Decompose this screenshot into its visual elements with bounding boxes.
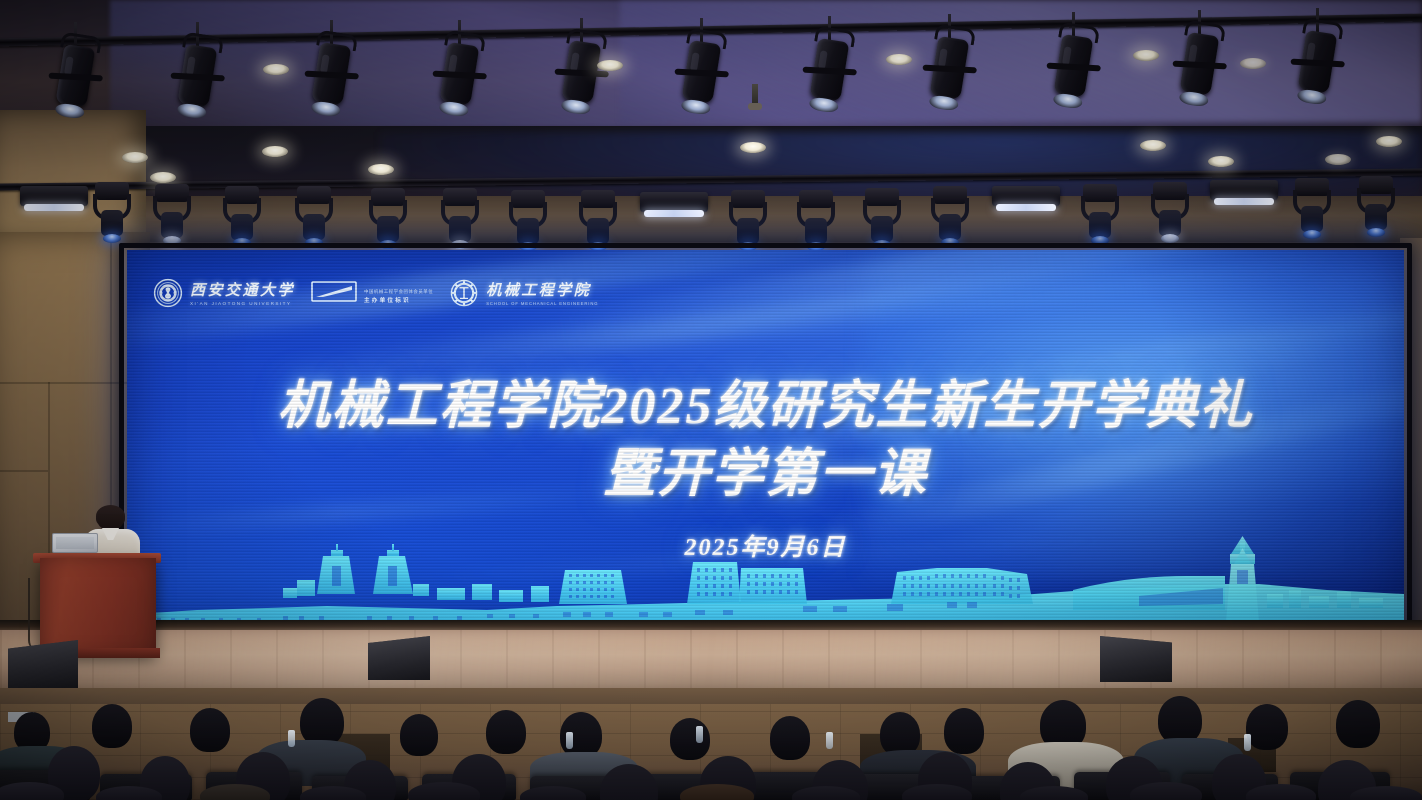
water-bottle <box>1244 734 1251 751</box>
water-bottle <box>566 732 573 749</box>
ceiling-downlight <box>597 60 623 71</box>
audience-head <box>1350 786 1422 800</box>
light-beam <box>1367 228 1385 237</box>
lectern <box>40 558 156 654</box>
moving-head-light <box>368 188 408 246</box>
audience-head <box>92 704 132 748</box>
moving-head-light <box>1150 182 1190 240</box>
light-beam <box>163 236 181 245</box>
moving-head-light <box>508 190 548 248</box>
moving-head-light <box>728 190 768 248</box>
water-bottle <box>826 732 833 749</box>
stage-monitor-right <box>1100 636 1172 682</box>
ceiling-downlight <box>263 64 289 75</box>
light-beam <box>1161 234 1179 243</box>
ceiling-downlight <box>740 142 766 153</box>
tower-block-b <box>687 562 807 604</box>
headline-line-2: 暨开学第一课 <box>127 444 1404 506</box>
ceiling-downlight <box>1133 50 1159 61</box>
moving-head-light <box>1080 184 1120 242</box>
moving-head-light <box>440 188 480 246</box>
moving-head-light <box>930 186 970 244</box>
audience-head <box>1158 696 1202 744</box>
light-beam <box>379 240 397 249</box>
logo-xjtu: 西安交通大学 XI'AN JIAOTONG UNIVERSITY <box>153 278 295 313</box>
logo-school-cn: 机械工程学院 <box>486 284 598 299</box>
ceiling-downlight <box>1240 58 1266 69</box>
light-beam <box>103 234 121 243</box>
ceiling-downlight <box>150 172 176 183</box>
ceiling-wood-strip <box>0 196 1422 244</box>
light-beam <box>1303 230 1321 239</box>
moving-head-light <box>1292 178 1332 236</box>
audience-head <box>770 716 810 760</box>
logo-school-mech-eng: 机械工程学院 SCHOOL OF MECHANICAL ENGINEERING <box>449 278 598 313</box>
gear-emblem-icon <box>449 278 479 313</box>
water-bottle <box>696 726 703 743</box>
logo-xjtu-en: XI'AN JIAOTONG UNIVERSITY <box>190 302 295 307</box>
led-par-bar <box>640 192 708 212</box>
modern-hall <box>1073 576 1225 610</box>
ceiling-downlight <box>262 146 288 157</box>
apartment-block-a <box>559 570 627 604</box>
stage-floor-reflection <box>0 630 1422 692</box>
logo-row: 西安交通大学 XI'AN JIAOTONG UNIVERSITY 中国机械工程学… <box>153 278 598 313</box>
logo-association: 中国机械工程学会团体会员单位 主办单位标识 <box>311 281 433 310</box>
light-beam <box>233 238 251 247</box>
led-par-bar <box>1210 180 1278 200</box>
ceiling-sprinkler-head <box>752 84 758 106</box>
moving-head-light <box>1356 176 1396 234</box>
led-par-bar <box>20 186 88 206</box>
stadium-buildings <box>283 544 429 598</box>
led-display-screen: 西安交通大学 XI'AN JIAOTONG UNIVERSITY 中国机械工程学… <box>127 250 1404 630</box>
light-beam <box>305 238 323 247</box>
ceiling-downlight <box>886 54 912 65</box>
water-bottle <box>288 730 295 747</box>
moving-head-light <box>796 190 836 248</box>
laptop-screen <box>52 533 98 553</box>
campus-complex <box>891 568 1033 604</box>
rectangle-emblem-icon <box>311 281 357 310</box>
audience-head <box>944 708 984 754</box>
seated-audience <box>0 690 1422 800</box>
audience-head <box>486 710 526 754</box>
audience-head <box>1336 700 1380 748</box>
audience-head <box>190 708 230 752</box>
wall-seam <box>0 470 48 472</box>
logo-association-line1: 中国机械工程学会团体会员单位 <box>364 289 433 295</box>
headline-line-1: 机械工程学院2025级研究生新生开学典礼 <box>127 378 1404 436</box>
moving-head-light <box>222 186 262 244</box>
city-skyline-graphic <box>127 518 1404 630</box>
light-beam <box>873 240 891 249</box>
audience-head <box>670 718 710 760</box>
moving-head-light <box>862 188 902 246</box>
moving-head-light <box>294 186 334 244</box>
led-par-bar <box>992 186 1060 206</box>
light-beam <box>941 238 959 247</box>
logo-association-line2: 主办单位标识 <box>364 296 433 304</box>
ceiling-downlight <box>1140 140 1166 151</box>
audience-head <box>1246 704 1288 750</box>
ceiling-downlight <box>1208 156 1234 167</box>
audience-head <box>300 698 344 746</box>
logo-xjtu-cn: 西安交通大学 <box>190 284 295 299</box>
ceiling-downlight <box>122 152 148 163</box>
moving-head-light <box>578 190 618 248</box>
moving-head-light <box>92 182 132 240</box>
ceiling-downlight <box>1376 136 1402 147</box>
university-seal-icon <box>153 278 183 313</box>
presenter-hair <box>96 505 125 527</box>
logo-school-en: SCHOOL OF MECHANICAL ENGINEERING <box>486 302 598 306</box>
audience-head <box>400 714 438 756</box>
moving-head-light <box>152 184 192 242</box>
stage-monitor-center <box>368 636 430 680</box>
light-beam <box>451 240 469 249</box>
light-beam <box>1091 236 1109 245</box>
ceiling-downlight <box>1325 154 1351 165</box>
auditorium-photo: 西安交通大学 XI'AN JIAOTONG UNIVERSITY 中国机械工程学… <box>0 0 1422 800</box>
ceiling-downlight <box>368 164 394 175</box>
